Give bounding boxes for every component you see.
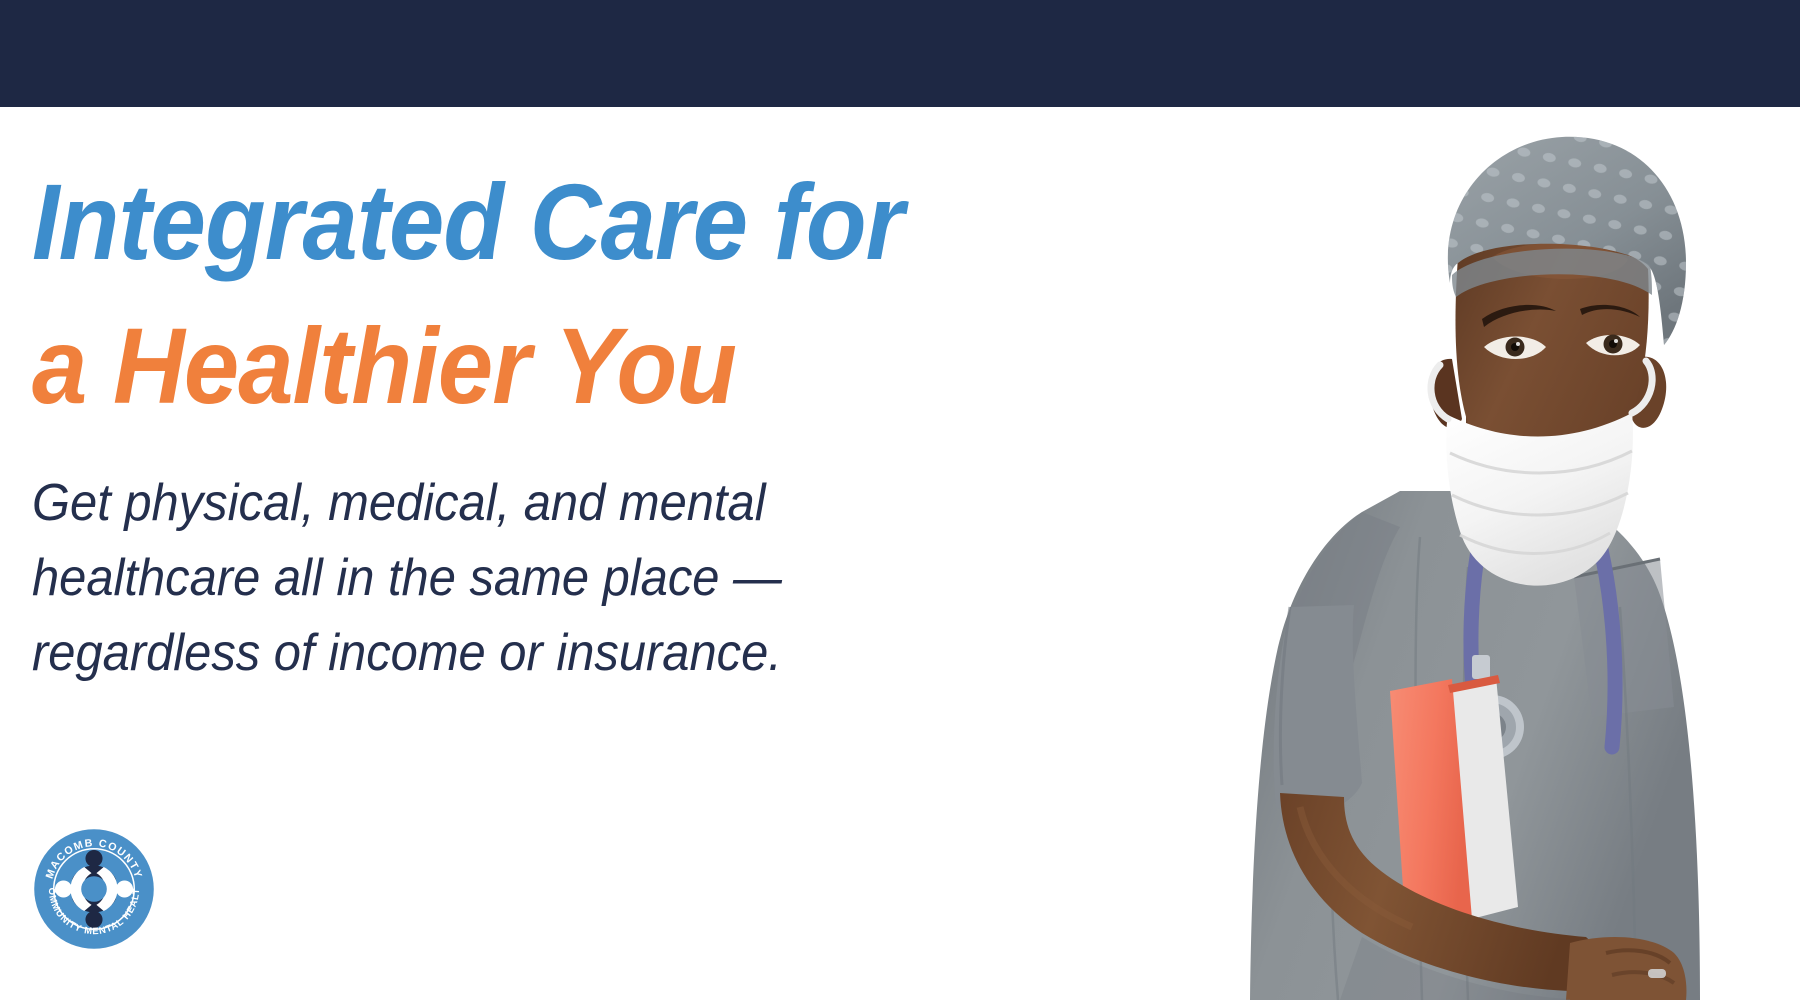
subcopy-paragraph: Get physical, medical, and mental health… <box>32 466 1028 691</box>
subcopy-line-1: Get physical, medical, and mental <box>32 466 1028 541</box>
top-navy-bar <box>0 0 1800 107</box>
healthcare-worker-photo <box>1100 107 1800 1000</box>
headline-line-1: Integrated Care for <box>32 150 1007 294</box>
subcopy-line-3: regardless of income or insurance. <box>32 616 1028 691</box>
banner-root: Integrated Care for a Healthier You Get … <box>0 0 1800 1000</box>
macomb-county-cmh-logo: MACOMB COUNTY COMMUNITY MENTAL HEALTH <box>33 828 155 950</box>
subcopy-line-2: healthcare all in the same place — <box>32 541 1028 616</box>
ring <box>1648 969 1666 978</box>
text-content-block: Integrated Care for a Healthier You Get … <box>32 150 1092 691</box>
headline-line-2: a Healthier You <box>32 294 1007 438</box>
stethoscope-clip <box>1472 655 1490 679</box>
